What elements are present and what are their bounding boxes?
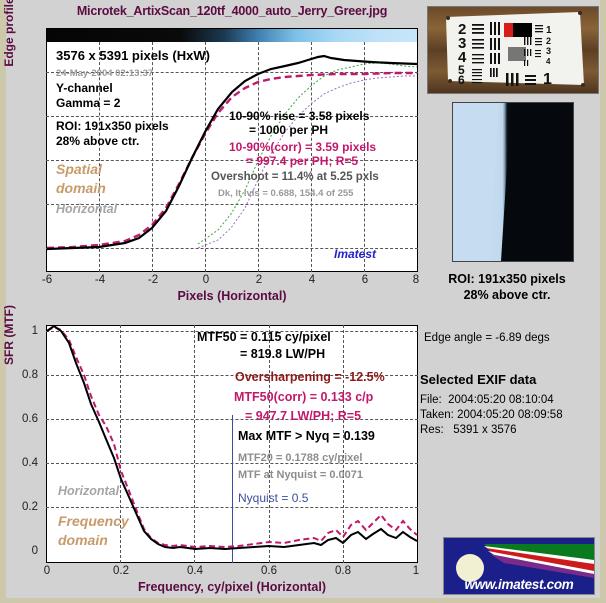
upper-ann-overshoot: Overshoot = 11.4% at 5.25 pxls bbox=[211, 171, 379, 183]
lower-label-orientation: Horizontal bbox=[58, 484, 119, 498]
svg-text:1: 1 bbox=[543, 71, 552, 88]
upper-label-domain-1: Spatial bbox=[56, 161, 102, 177]
upper-ann-size: 3576 x 5391 pixels (HxW) bbox=[56, 48, 210, 63]
upper-ann-roi: ROI: 191x350 pixels bbox=[56, 119, 169, 133]
upper-ann-rise-corr-ph: = 997.4 per PH; R=5 bbox=[246, 154, 358, 168]
test-chart-image: 2 3 4 5 6 1 2 3 4 1 bbox=[428, 7, 598, 93]
window-border-bottom bbox=[0, 598, 606, 603]
upper-ann-channel: Y-channel bbox=[56, 81, 113, 95]
svg-text:6: 6 bbox=[458, 73, 465, 87]
lower-label-domain-1: Frequency bbox=[58, 513, 129, 529]
upper-xtick: -2 bbox=[148, 274, 158, 286]
upper-ann-rise-ph: = 1000 per PH bbox=[249, 123, 328, 137]
lower-xtick: 0.4 bbox=[187, 565, 203, 577]
exif-heading: Selected EXIF data bbox=[420, 372, 536, 387]
upper-label-orientation: Horizontal bbox=[56, 202, 117, 216]
lower-ytick: 0 bbox=[8, 545, 38, 557]
upper-xtick: 2 bbox=[256, 274, 262, 286]
upper-ann-roi-offset: 28% above ctr. bbox=[56, 134, 139, 148]
roi-caption-line2: 28% above ctr. bbox=[412, 288, 602, 302]
upper-ann-rise-corr: 10-90%(corr) = 3.59 pixels bbox=[229, 140, 376, 154]
exif-file: File: 2004:05:20 08:10:04 bbox=[420, 394, 554, 406]
exif-resolution: Res: 5391 x 3576 bbox=[420, 424, 517, 436]
mtf-chart: MTF50 = 0.115 cy/pixel = 819.8 LW/PH Ove… bbox=[46, 325, 418, 563]
roi-edge-image bbox=[453, 103, 573, 261]
upper-chart-xlabel: Pixels (Horizontal) bbox=[46, 289, 418, 303]
roi-caption-line1: ROI: 191x350 pixels bbox=[412, 272, 602, 286]
upper-ann-levels: Dk, lt lvls = 0.688, 154.4 of 255 bbox=[218, 188, 353, 199]
lower-xtick: 0.6 bbox=[261, 565, 277, 577]
exif-taken: Taken: 2004:05:20 08:09:58 bbox=[420, 409, 563, 421]
lower-ytick: 0.4 bbox=[8, 457, 38, 469]
edge-angle-value: Edge angle = -6.89 degs bbox=[424, 332, 550, 344]
lower-ann-max-mtf: Max MTF > Nyq = 0.139 bbox=[238, 429, 375, 443]
svg-text:1: 1 bbox=[546, 25, 552, 36]
lower-ann-mtf50-corr: MTF50(corr) = 0.133 c/p bbox=[234, 390, 373, 404]
upper-chart-ylabel: Edge profile bbox=[2, 0, 16, 92]
lower-ytick: 0.8 bbox=[8, 369, 38, 381]
upper-xtick: 6 bbox=[362, 274, 368, 286]
roi-crop-thumbnail[interactable] bbox=[452, 102, 574, 262]
lower-xtick: 0.8 bbox=[335, 565, 351, 577]
lower-ann-mtf20: MTF20 = 0.1788 cy/pixel bbox=[238, 452, 362, 464]
upper-ann-date: 24-May-2004 02:13:37 bbox=[56, 68, 153, 79]
upper-ann-gamma: Gamma = 2 bbox=[56, 96, 120, 110]
lower-label-domain-2: domain bbox=[58, 532, 108, 548]
lower-ann-mtf50-corr-lwph: = 947.7 LW/PH; R=5 bbox=[245, 409, 361, 423]
upper-xtick: -6 bbox=[42, 274, 52, 286]
edge-profile-chart: 3576 x 5391 pixels (HxW) 24-May-2004 02:… bbox=[46, 28, 418, 272]
svg-text:4: 4 bbox=[546, 57, 551, 66]
lower-ann-oversharpening: Oversharpening = -12.5% bbox=[235, 370, 385, 384]
lower-ann-mtf50-lwph: = 819.8 LW/PH bbox=[240, 347, 325, 361]
upper-xtick: -4 bbox=[95, 274, 105, 286]
svg-text:3: 3 bbox=[546, 46, 551, 56]
imatest-logo[interactable]: www.imatest.com bbox=[443, 537, 595, 595]
lower-xtick: 0 bbox=[44, 565, 50, 577]
lower-ann-mtf-nyquist: MTF at Nyquist = 0.0071 bbox=[238, 469, 363, 481]
lower-ann-nyquist: Nyquist = 0.5 bbox=[238, 491, 308, 505]
upper-xtick: 0 bbox=[203, 274, 209, 286]
imatest-watermark: Imatest bbox=[334, 247, 376, 261]
upper-ann-rise: 10-90% rise = 3.58 pixels bbox=[229, 109, 369, 123]
lower-chart-xlabel: Frequency, cy/pixel (Horizontal) bbox=[46, 580, 418, 594]
upper-xtick: 4 bbox=[309, 274, 315, 286]
upper-label-domain-2: domain bbox=[56, 180, 106, 196]
page-title: Microtek_ArtixScan_120tf_4000_auto_Jerry… bbox=[52, 4, 412, 18]
lower-ytick: 0.6 bbox=[8, 413, 38, 425]
lower-ann-mtf50: MTF50 = 0.115 cy/pixel bbox=[197, 330, 331, 344]
lower-ytick: 0.2 bbox=[8, 501, 38, 513]
imatest-logo-text: www.imatest.com bbox=[444, 577, 594, 592]
svg-text:2: 2 bbox=[546, 36, 551, 46]
lower-xtick: 0.2 bbox=[113, 565, 129, 577]
lower-xtick: 1 bbox=[413, 565, 419, 577]
roi-marker bbox=[504, 23, 513, 37]
test-chart-thumbnail[interactable]: 2 3 4 5 6 1 2 3 4 1 bbox=[427, 6, 599, 94]
lower-ytick: 1 bbox=[8, 325, 38, 337]
